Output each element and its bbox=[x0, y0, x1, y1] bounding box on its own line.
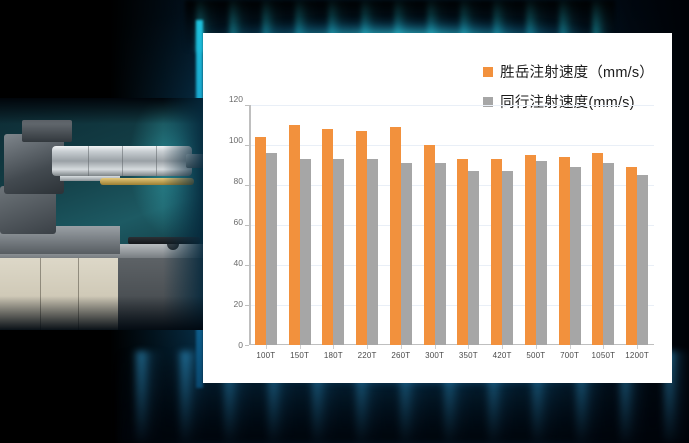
x-axis-tick-label: 350T bbox=[452, 351, 486, 360]
y-axis-tick-label: 80 bbox=[234, 176, 243, 186]
photo-barrel-seam bbox=[122, 146, 123, 176]
x-axis-tick-label: 150T bbox=[283, 351, 317, 360]
bar-group bbox=[384, 105, 418, 345]
x-axis-tick-label: 420T bbox=[485, 351, 519, 360]
bar[interactable] bbox=[603, 163, 614, 345]
y-axis-tick-label: 60 bbox=[234, 217, 243, 227]
bar[interactable] bbox=[457, 159, 468, 345]
x-axis-tickmark bbox=[637, 345, 638, 349]
x-axis-tick-label: 180T bbox=[317, 351, 351, 360]
injection-molding-machine-photo bbox=[0, 98, 205, 330]
bar[interactable] bbox=[367, 159, 378, 345]
photo-fade-bottom bbox=[0, 296, 205, 330]
bar-groups bbox=[249, 105, 654, 345]
x-axis-tick-label: 1200T bbox=[620, 351, 654, 360]
x-axis-tick-label: 300T bbox=[418, 351, 452, 360]
x-axis-tick-label: 100T bbox=[249, 351, 283, 360]
x-axis-labels: 100T150T180T220T260T300T350T420T500T700T… bbox=[249, 351, 654, 360]
y-axis-tick-label: 20 bbox=[234, 299, 243, 309]
x-axis-tick-label: 220T bbox=[350, 351, 384, 360]
bar-group bbox=[350, 105, 384, 345]
bar-group bbox=[519, 105, 553, 345]
bar[interactable] bbox=[322, 129, 333, 345]
x-axis-tickmark bbox=[300, 345, 301, 349]
x-axis-tick-label: 500T bbox=[519, 351, 553, 360]
x-axis-tick-label: 1050T bbox=[587, 351, 621, 360]
bar-group bbox=[620, 105, 654, 345]
bar-group bbox=[452, 105, 486, 345]
bar-group bbox=[553, 105, 587, 345]
x-axis-tickmark bbox=[536, 345, 537, 349]
bar-group bbox=[249, 105, 283, 345]
bar-group bbox=[283, 105, 317, 345]
bar[interactable] bbox=[637, 175, 648, 345]
legend-swatch-icon bbox=[483, 67, 493, 77]
bar[interactable] bbox=[333, 159, 344, 345]
bar[interactable] bbox=[570, 167, 581, 345]
bar[interactable] bbox=[592, 153, 603, 345]
y-axis-tickmark bbox=[245, 345, 249, 346]
plot-area bbox=[249, 105, 654, 345]
bar[interactable] bbox=[289, 125, 300, 345]
x-axis-tickmark bbox=[502, 345, 503, 349]
bar[interactable] bbox=[491, 159, 502, 345]
photo-barrel-seam bbox=[88, 146, 89, 176]
x-axis-tickmark bbox=[468, 345, 469, 349]
legend-item-1[interactable]: 胜岳注射速度（mm/s） bbox=[483, 61, 654, 82]
bar[interactable] bbox=[435, 163, 446, 345]
legend-item-label: 胜岳注射速度（mm/s） bbox=[500, 61, 654, 82]
bar[interactable] bbox=[390, 127, 401, 345]
x-axis-tickmark bbox=[435, 345, 436, 349]
bar[interactable] bbox=[424, 145, 435, 345]
x-axis-tickmark bbox=[401, 345, 402, 349]
bar[interactable] bbox=[468, 171, 479, 345]
x-axis-tickmark bbox=[266, 345, 267, 349]
bar[interactable] bbox=[502, 171, 513, 345]
photo-barrel-seam bbox=[156, 146, 157, 176]
bar[interactable] bbox=[559, 157, 570, 345]
bar[interactable] bbox=[401, 163, 412, 345]
bar[interactable] bbox=[626, 167, 637, 345]
bar[interactable] bbox=[255, 137, 266, 345]
x-axis-tick-label: 260T bbox=[384, 351, 418, 360]
bar[interactable] bbox=[356, 131, 367, 345]
bar-group bbox=[485, 105, 519, 345]
bar-group bbox=[587, 105, 621, 345]
x-axis-tick-label: 700T bbox=[553, 351, 587, 360]
bar[interactable] bbox=[266, 153, 277, 345]
x-axis-tickmark bbox=[570, 345, 571, 349]
bar-group bbox=[418, 105, 452, 345]
bar[interactable] bbox=[525, 155, 536, 345]
y-axis-tick-label: 100 bbox=[229, 135, 243, 145]
x-axis-tickmark bbox=[333, 345, 334, 349]
chart-panel: 胜岳注射速度（mm/s）同行注射速度(mm/s) 020406080100120… bbox=[203, 33, 672, 383]
bar-group bbox=[317, 105, 351, 345]
y-axis-tick-label: 120 bbox=[229, 94, 243, 104]
y-axis-labels: 020406080100120 bbox=[203, 99, 247, 345]
bar[interactable] bbox=[300, 159, 311, 345]
slide-canvas: 胜岳注射速度（mm/s）同行注射速度(mm/s) 020406080100120… bbox=[0, 0, 689, 443]
y-axis-tick-label: 0 bbox=[238, 340, 243, 350]
x-axis-tickmark bbox=[367, 345, 368, 349]
y-axis-tick-label: 40 bbox=[234, 258, 243, 268]
bar[interactable] bbox=[536, 161, 547, 345]
x-axis-tickmark bbox=[603, 345, 604, 349]
